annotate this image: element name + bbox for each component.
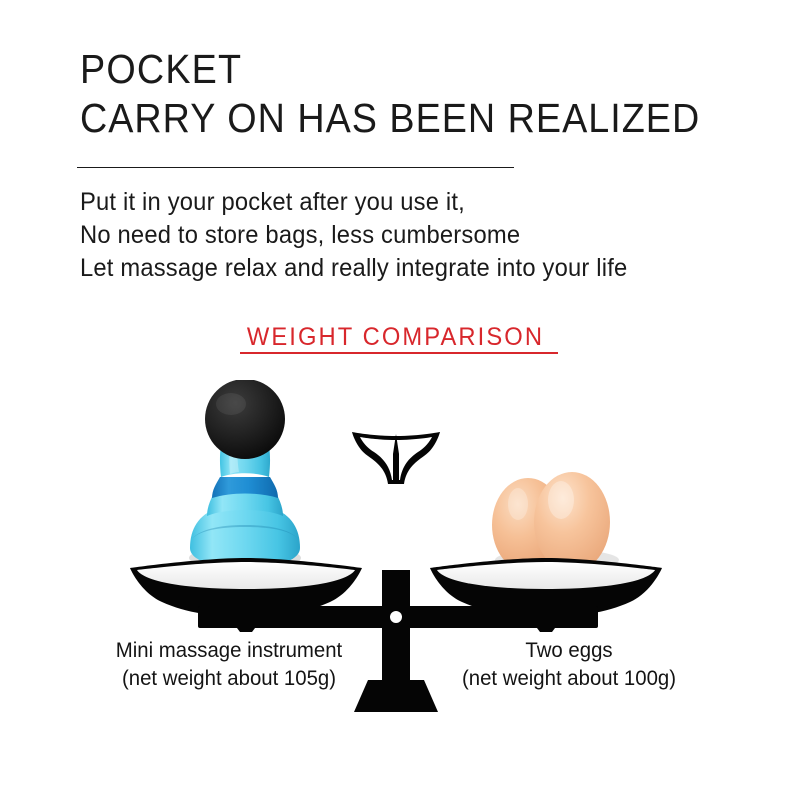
body-copy-block: Put it in your pocket after you use it, … <box>80 186 780 285</box>
headline-divider <box>77 167 514 168</box>
mini-massager-graphic <box>189 380 301 570</box>
caption-right-weight: (net weight about 100g) <box>415 665 723 693</box>
section-title-wrap: WEIGHT COMPARISON <box>0 322 790 352</box>
two-eggs-graphic <box>492 472 619 572</box>
body-copy-line-3: Let massage relax and really integrate i… <box>80 252 745 285</box>
headline-line-2: CARRY ON HAS BEEN REALIZED <box>80 94 687 143</box>
body-copy-line-1: Put it in your pocket after you use it, <box>80 186 745 219</box>
body-copy-line-2: No need to store bags, less cumbersome <box>80 219 745 252</box>
headline-line-1: POCKET <box>80 45 687 94</box>
headline-block: POCKET CARRY ON HAS BEEN REALIZED <box>80 45 740 143</box>
caption-right-name: Two eggs <box>415 637 723 665</box>
caption-left: Mini massage instrument (net weight abou… <box>75 637 383 693</box>
section-title-underline <box>240 352 558 354</box>
caption-left-name: Mini massage instrument <box>75 637 383 665</box>
section-title: WEIGHT COMPARISON <box>246 322 543 352</box>
product-feature-page: POCKET CARRY ON HAS BEEN REALIZED Put it… <box>0 0 790 795</box>
caption-left-weight: (net weight about 105g) <box>75 665 383 693</box>
caption-right: Two eggs (net weight about 100g) <box>415 637 723 693</box>
